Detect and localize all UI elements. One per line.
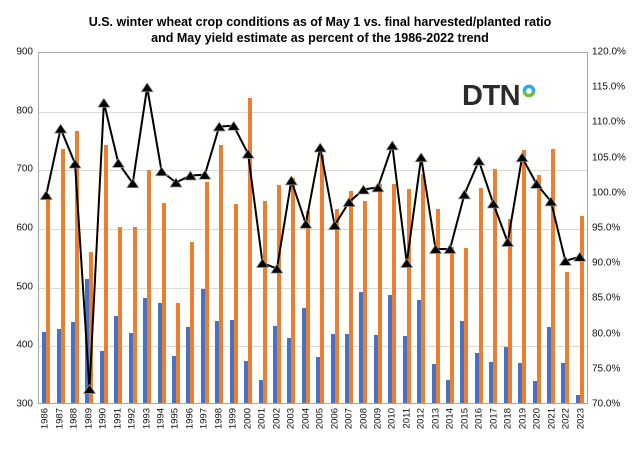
bar-group [327, 53, 341, 403]
x-axis-tick: 2022 [559, 406, 573, 452]
x-axis-tick: 1998 [212, 406, 226, 452]
x-axis-tick: 2021 [544, 406, 558, 452]
x-axis-tick: 2005 [313, 406, 327, 452]
bar-group [544, 53, 558, 403]
bar-actual-pct-trend [75, 131, 79, 403]
chart-container: U.S. winter wheat crop conditions as of … [0, 0, 640, 460]
x-axis-tick-label: 2014 [445, 408, 456, 429]
bar-actual-pct-trend [522, 150, 526, 403]
x-axis-tick-label: 1987 [54, 408, 65, 429]
bar-actual-pct-trend [61, 149, 65, 403]
y-axis-left-tick-label: 600 [16, 223, 33, 234]
bar-actual-pct-trend [306, 211, 310, 403]
bar-actual-pct-trend [580, 216, 584, 403]
y-axis-right: 70.0%75.0%80.0%85.0%90.0%95.0%100.0%105.… [592, 52, 640, 404]
bar-group [573, 53, 587, 403]
x-axis-tick: 1986 [38, 406, 52, 452]
bar-group [313, 53, 327, 403]
bar-group [39, 53, 53, 403]
bar-actual-pct-trend [436, 209, 440, 403]
x-axis-tick-label: 2005 [315, 408, 326, 429]
bar-actual-pct-trend [277, 185, 281, 403]
x-axis-tick-label: 2009 [373, 408, 384, 429]
x-axis-tick: 1992 [125, 406, 139, 452]
x-axis-tick-label: 2000 [242, 408, 253, 429]
x-axis-tick-label: 1999 [228, 408, 239, 429]
x-axis-tick-label: 2015 [459, 408, 470, 429]
x-axis-tick-label: 2008 [358, 408, 369, 429]
x-axis-tick: 2013 [429, 406, 443, 452]
y-axis-left-tick-label: 400 [16, 340, 33, 351]
bar-group [255, 53, 269, 403]
bar-actual-pct-trend [133, 227, 137, 403]
x-axis-tick-label: 2010 [387, 408, 398, 429]
bar-actual-pct-trend [537, 175, 541, 403]
y-axis-left-tick-label: 800 [16, 105, 33, 116]
bar-actual-pct-trend [565, 272, 569, 403]
x-axis-tick-label: 2021 [546, 408, 557, 429]
x-axis-tick-label: 2012 [416, 408, 427, 429]
y-axis-right-tick-label: 110.0% [592, 117, 625, 128]
x-axis-tick: 1996 [183, 406, 197, 452]
bar-actual-pct-trend [104, 145, 108, 403]
y-axis-left-tick-label: 900 [16, 47, 33, 58]
x-axis-tick: 2006 [327, 406, 341, 452]
x-axis-tick: 2011 [400, 406, 414, 452]
bar-actual-pct-trend [190, 242, 194, 403]
x-axis-tick-label: 1992 [127, 408, 138, 429]
bar-actual-pct-trend [248, 98, 252, 403]
bar-group [356, 53, 370, 403]
x-axis-tick: 2020 [530, 406, 544, 452]
x-axis-tick-label: 2003 [286, 408, 297, 429]
x-axis-tick: 2009 [371, 406, 385, 452]
x-axis-tick-label: 2002 [271, 408, 282, 429]
bar-group [428, 53, 442, 403]
bar-actual-pct-trend [335, 209, 339, 403]
bar-actual-pct-trend [263, 201, 267, 403]
y-axis-left-tick-label: 300 [16, 399, 33, 410]
x-axis-tick: 2015 [458, 406, 472, 452]
bar-actual-pct-trend [320, 155, 324, 403]
bar-group [154, 53, 168, 403]
bar-actual-pct-trend [363, 201, 367, 403]
x-axis-tick: 1989 [81, 406, 95, 452]
bar-actual-pct-trend [118, 227, 122, 403]
x-axis-tick: 2019 [515, 406, 529, 452]
chart-title: U.S. winter wheat crop conditions as of … [40, 14, 600, 46]
y-axis-left: 300400500600700800900 [0, 52, 33, 404]
x-axis-tick: 1995 [168, 406, 182, 452]
bar-actual-pct-trend [464, 248, 468, 403]
y-axis-right-tick-label: 90.0% [592, 258, 620, 269]
bar-actual-pct-trend [450, 247, 454, 403]
y-axis-right-tick-label: 100.0% [592, 187, 626, 198]
bar-group [299, 53, 313, 403]
x-axis-tick-label: 1990 [98, 408, 109, 429]
x-axis-tick: 2010 [385, 406, 399, 452]
bar-group [558, 53, 572, 403]
x-axis-tick-label: 2017 [488, 408, 499, 429]
x-axis-tick: 2007 [342, 406, 356, 452]
x-axis-tick: 1999 [226, 406, 240, 452]
bar-group [140, 53, 154, 403]
bar-actual-pct-trend [46, 194, 50, 403]
bar-actual-pct-trend [493, 169, 497, 403]
bar-actual-pct-trend [162, 203, 166, 403]
x-axis-tick-label: 1989 [83, 408, 94, 429]
x-axis-tick-label: 2023 [575, 408, 586, 429]
x-axis-tick: 2000 [241, 406, 255, 452]
bar-actual-pct-trend [551, 149, 555, 403]
x-axis-tick: 1987 [52, 406, 66, 452]
x-axis-tick-label: 1991 [112, 408, 123, 429]
bar-group [53, 53, 67, 403]
bar-group [111, 53, 125, 403]
bar-actual-pct-trend [378, 184, 382, 403]
x-axis-tick-label: 2007 [344, 408, 355, 429]
x-axis-tick: 2012 [414, 406, 428, 452]
bar-actual-pct-trend [392, 184, 396, 403]
x-axis-tick-label: 2004 [300, 408, 311, 429]
bar-group [97, 53, 111, 403]
dtn-logo-text: DTN [462, 82, 520, 111]
bar-group [385, 53, 399, 403]
x-axis-tick-label: 2019 [517, 408, 528, 429]
chart-title-line-1: U.S. winter wheat crop conditions as of … [40, 14, 600, 30]
bar-group [400, 53, 414, 403]
x-axis-tick-label: 1998 [213, 408, 224, 429]
bar-group [241, 53, 255, 403]
x-axis-tick-label: 1986 [40, 408, 51, 429]
x-axis-tick: 1991 [110, 406, 124, 452]
x-axis-tick-label: 1988 [69, 408, 80, 429]
dtn-logo: DTN [462, 82, 536, 111]
x-axis-tick-label: 1993 [141, 408, 152, 429]
x-axis-tick: 2016 [472, 406, 486, 452]
bar-actual-pct-trend [176, 303, 180, 403]
x-axis-tick: 2014 [443, 406, 457, 452]
x-axis-tick: 2017 [487, 406, 501, 452]
x-axis-year-labels: 1986198719881989199019911992199319941995… [38, 406, 588, 452]
x-axis-tick-label: 2013 [430, 408, 441, 429]
x-axis-tick: 2001 [255, 406, 269, 452]
y-axis-right-tick-label: 85.0% [592, 293, 620, 304]
y-axis-left-tick-label: 500 [16, 281, 33, 292]
x-axis-tick: 1990 [96, 406, 110, 452]
y-axis-right-tick-label: 95.0% [592, 223, 620, 234]
bar-group [414, 53, 428, 403]
bar-actual-pct-trend [291, 178, 295, 403]
x-axis-tick: 2003 [284, 406, 298, 452]
y-axis-left-tick-label: 700 [16, 164, 33, 175]
bar-group [82, 53, 96, 403]
x-axis-tick-label: 1994 [155, 408, 166, 429]
x-axis-tick: 2023 [573, 406, 587, 452]
x-axis-tick: 2018 [501, 406, 515, 452]
x-axis-tick: 1997 [197, 406, 211, 452]
bar-group [68, 53, 82, 403]
bar-group [169, 53, 183, 403]
chart-title-line-2: and May yield estimate as percent of the… [40, 30, 600, 46]
bar-actual-pct-trend [421, 174, 425, 403]
y-axis-right-tick-label: 115.0% [592, 82, 625, 93]
y-axis-right-tick-label: 80.0% [592, 328, 620, 339]
y-axis-right-tick-label: 105.0% [592, 152, 626, 163]
bar-actual-pct-trend [147, 170, 151, 403]
x-axis-tick-label: 2016 [474, 408, 485, 429]
x-axis-tick: 2002 [270, 406, 284, 452]
bar-actual-pct-trend [479, 188, 483, 403]
x-axis-tick: 1994 [154, 406, 168, 452]
bar-actual-pct-trend [219, 145, 223, 403]
bar-actual-pct-trend [349, 191, 353, 403]
dtn-logo-mark-icon [522, 84, 536, 103]
x-axis-tick-label: 1995 [170, 408, 181, 429]
bar-actual-pct-trend [89, 252, 93, 403]
y-axis-right-tick-label: 70.0% [592, 399, 620, 410]
x-axis-tick-label: 2011 [401, 408, 412, 428]
bar-group [226, 53, 240, 403]
bar-group [342, 53, 356, 403]
x-axis-tick-label: 2020 [532, 408, 543, 429]
bar-actual-pct-trend [407, 189, 411, 403]
x-axis-tick-label: 2018 [503, 408, 514, 429]
bar-group [270, 53, 284, 403]
bar-group [183, 53, 197, 403]
x-axis-tick-label: 2006 [329, 408, 340, 429]
x-axis-tick-label: 2022 [561, 408, 572, 429]
y-axis-right-tick-label: 120.0% [592, 47, 626, 58]
x-axis-tick-label: 2001 [257, 408, 268, 429]
x-axis-tick: 2004 [298, 406, 312, 452]
bar-group [198, 53, 212, 403]
y-axis-right-tick-label: 75.0% [592, 363, 620, 374]
x-axis-tick: 1993 [139, 406, 153, 452]
bar-group [126, 53, 140, 403]
bar-group [443, 53, 457, 403]
bar-group [371, 53, 385, 403]
x-axis-tick-label: 1996 [184, 408, 195, 429]
bar-group [284, 53, 298, 403]
bar-actual-pct-trend [508, 219, 512, 403]
bar-actual-pct-trend [234, 204, 238, 403]
x-axis-tick: 2008 [356, 406, 370, 452]
bar-group [212, 53, 226, 403]
x-axis-tick-label: 1997 [199, 408, 210, 429]
x-axis-tick: 1988 [67, 406, 81, 452]
bar-actual-pct-trend [205, 182, 209, 403]
